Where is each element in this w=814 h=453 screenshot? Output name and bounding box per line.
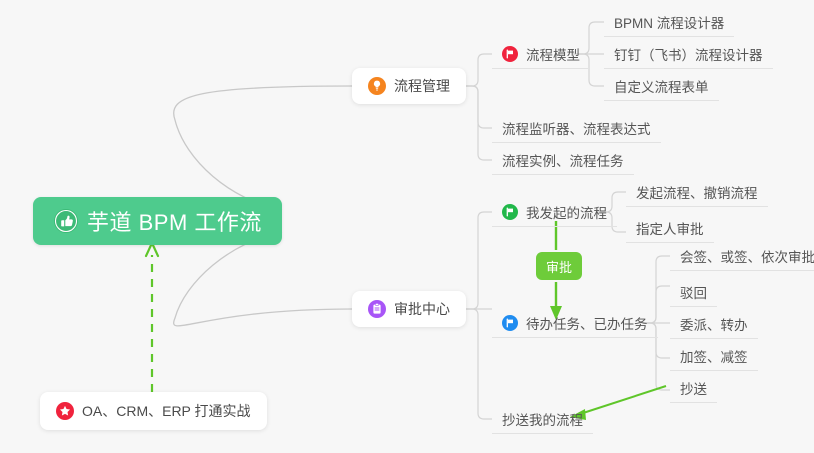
root-node[interactable]: 芋道 BPM 工作流 xyxy=(33,197,282,245)
node-delegate-transfer[interactable]: 委派、转办 xyxy=(670,309,758,339)
node-label: 流程监听器、流程表达式 xyxy=(502,118,651,138)
node-label: 加签、减签 xyxy=(680,346,748,366)
node-dingtalk-designer[interactable]: 钉钉（飞书）流程设计器 xyxy=(604,39,773,69)
dashed-arrow-up xyxy=(146,243,158,392)
node-label: 自定义流程表单 xyxy=(614,76,709,96)
footer-node-integration[interactable]: OA、CRM、ERP 打通实战 xyxy=(40,392,267,430)
node-bpmn-designer[interactable]: BPMN 流程设计器 xyxy=(604,7,734,37)
node-assignee-approval[interactable]: 指定人审批 xyxy=(626,213,714,243)
node-label: BPMN 流程设计器 xyxy=(614,12,724,32)
node-label: 钉钉（飞书）流程设计器 xyxy=(614,44,763,64)
root-label: 芋道 BPM 工作流 xyxy=(87,205,262,237)
branch-label: 审批中心 xyxy=(394,299,450,319)
thumbs-up-icon xyxy=(53,208,79,234)
node-todo-done-tasks[interactable]: 待办任务、已办任务 xyxy=(492,308,658,338)
node-add-remove-sign[interactable]: 加签、减签 xyxy=(670,341,758,371)
node-reject[interactable]: 驳回 xyxy=(670,277,717,307)
node-process-listener[interactable]: 流程监听器、流程表达式 xyxy=(492,113,661,143)
approval-badge[interactable]: 审批 xyxy=(536,252,582,280)
node-label: 待办任务、已办任务 xyxy=(526,313,648,333)
node-label: 会签、或签、依次审批 xyxy=(680,246,814,266)
node-label: 委派、转办 xyxy=(680,314,748,334)
approval-badge-label: 审批 xyxy=(546,257,572,276)
flag-icon xyxy=(502,315,518,331)
node-my-started-process[interactable]: 我发起的流程 xyxy=(492,197,617,227)
footer-node-label: OA、CRM、ERP 打通实战 xyxy=(82,401,251,421)
node-label: 流程模型 xyxy=(526,44,580,64)
node-label: 驳回 xyxy=(680,282,707,302)
node-label: 指定人审批 xyxy=(636,218,704,238)
flag-icon xyxy=(502,204,518,220)
branch-approval-center[interactable]: 审批中心 xyxy=(352,291,466,327)
flag-icon xyxy=(502,46,518,62)
branch-label: 流程管理 xyxy=(394,76,450,96)
node-start-cancel-process[interactable]: 发起流程、撤销流程 xyxy=(626,177,768,207)
clipboard-icon xyxy=(368,300,386,318)
node-process-instance[interactable]: 流程实例、流程任务 xyxy=(492,145,634,175)
node-label: 我发起的流程 xyxy=(526,202,607,222)
node-label: 抄送 xyxy=(680,378,707,398)
node-label: 抄送我的流程 xyxy=(502,409,583,429)
node-label: 流程实例、流程任务 xyxy=(502,150,624,170)
node-cc-my-process[interactable]: 抄送我的流程 xyxy=(492,404,593,434)
star-icon xyxy=(56,402,74,420)
node-label: 发起流程、撤销流程 xyxy=(636,182,758,202)
node-custom-form[interactable]: 自定义流程表单 xyxy=(604,71,719,101)
node-process-model[interactable]: 流程模型 xyxy=(492,39,590,69)
mindmap-canvas: 芋道 BPM 工作流 流程管理 流程模型 流程监听器、流程表达式 流程实例、流 xyxy=(0,0,814,453)
node-countersign[interactable]: 会签、或签、依次审批 xyxy=(670,241,814,271)
node-carbon-copy[interactable]: 抄送 xyxy=(670,373,717,403)
lightbulb-pin-icon xyxy=(368,77,386,95)
branch-process-management[interactable]: 流程管理 xyxy=(352,68,466,104)
